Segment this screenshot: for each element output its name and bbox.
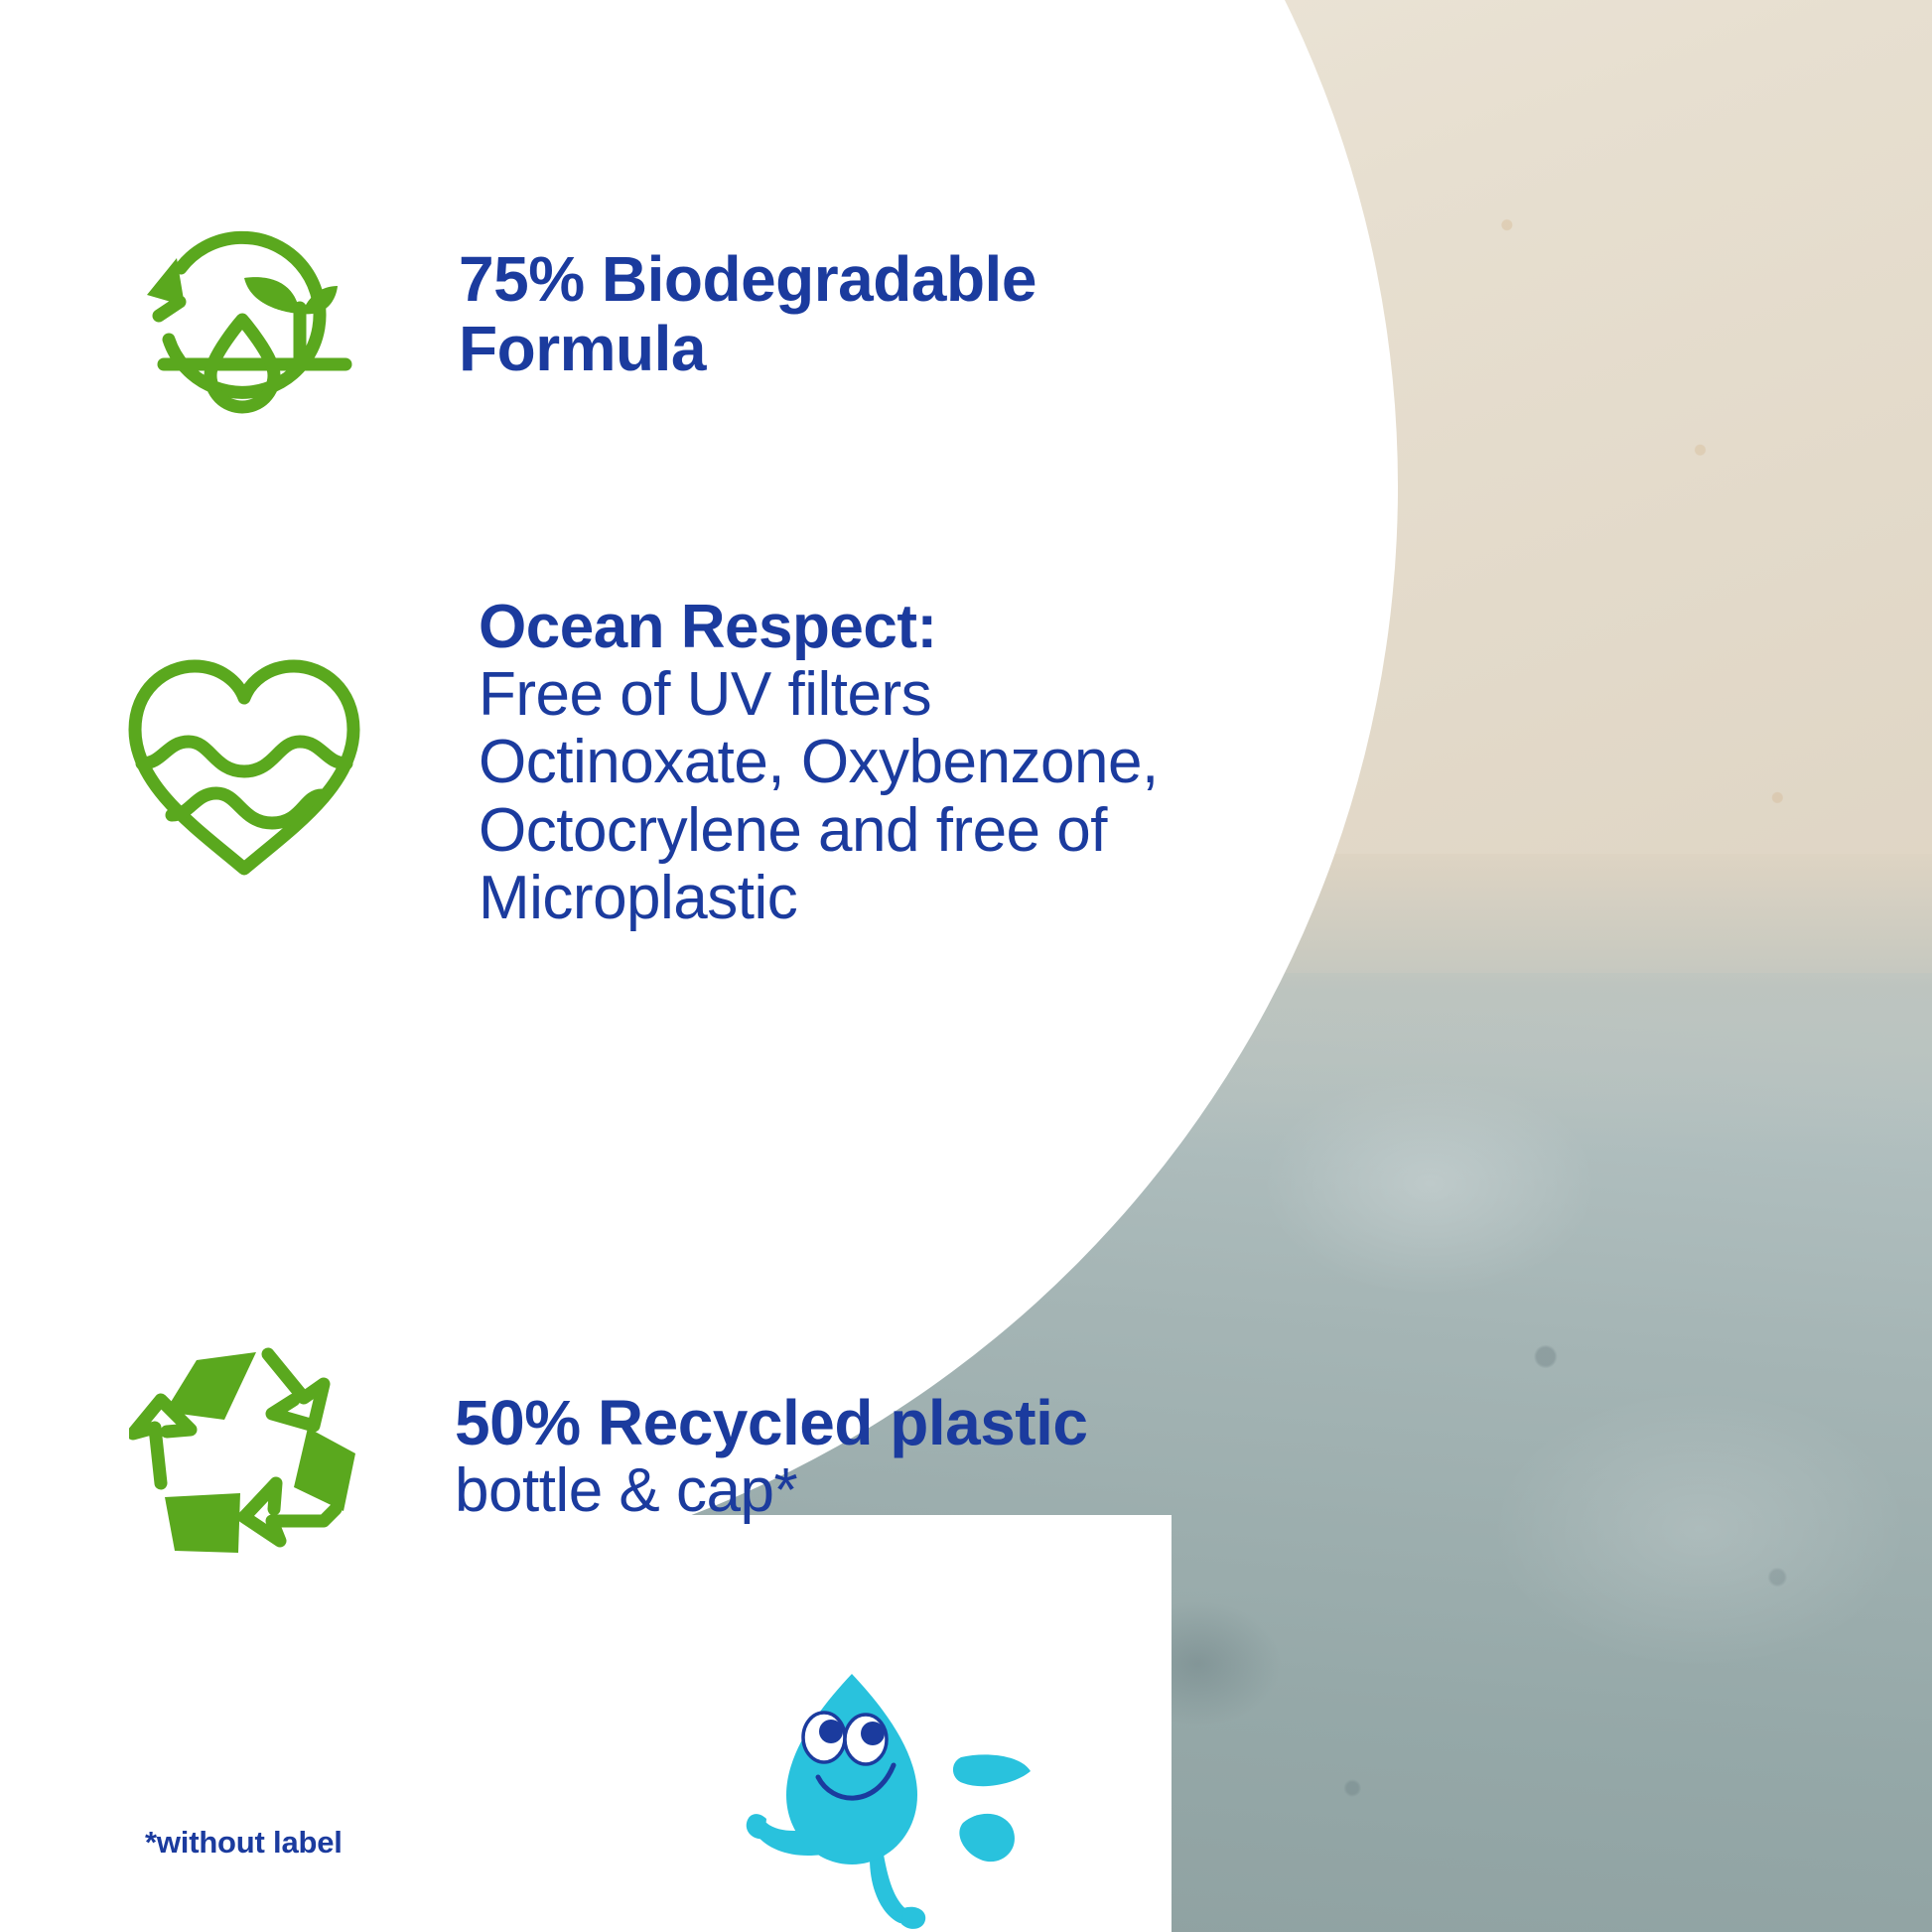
mascot-splash-small bbox=[959, 1814, 1015, 1862]
mascot-left-pupil bbox=[819, 1720, 843, 1743]
claim-recycled-plastic-bold-line: 50% Recycled plastic bbox=[455, 1388, 1087, 1457]
mascot-front-foot bbox=[901, 1907, 925, 1929]
footnote-without-label: *without label bbox=[145, 1825, 343, 1861]
claim-recycled-plastic: 50% Recycled plastic bottle & cap* bbox=[129, 1342, 1087, 1571]
water-droplet-mascot bbox=[737, 1660, 1064, 1932]
claim-ocean-respect-line-1: Free of UV filters bbox=[479, 660, 931, 729]
claim-ocean-respect-heading: Ocean Respect: bbox=[479, 594, 1159, 661]
claim-biodegradable-line-1: 75% Biodegradable bbox=[459, 243, 1036, 315]
claim-ocean-respect: Ocean Respect: Free of UV filters Octino… bbox=[115, 594, 1159, 932]
claim-biodegradable-line-2: Formula bbox=[459, 313, 706, 384]
claim-ocean-respect-line-4: Microplastic bbox=[479, 864, 797, 932]
claim-biodegradable: 75% Biodegradable Formula bbox=[125, 195, 1036, 433]
claim-recycled-plastic-text: 50% Recycled plastic bottle & cap* bbox=[455, 1388, 1087, 1526]
recycle-circle-plant-droplet-icon bbox=[125, 195, 363, 433]
product-claims-infographic: 75% Biodegradable Formula Ocean Respect:… bbox=[0, 0, 1932, 1932]
mascot-back-foot bbox=[747, 1814, 766, 1839]
claims-content: 75% Biodegradable Formula Ocean Respect:… bbox=[0, 0, 1932, 1932]
mascot-right-pupil bbox=[861, 1722, 885, 1745]
recycling-triangle-icon bbox=[129, 1342, 363, 1571]
claim-recycled-plastic-regular-line: bottle & cap* bbox=[455, 1457, 1087, 1525]
mascot-body bbox=[786, 1674, 917, 1864]
heart-wave-ocean-icon bbox=[115, 638, 373, 887]
claim-ocean-respect-line-2: Octinoxate, Oxybenzone, bbox=[479, 728, 1159, 796]
claim-biodegradable-text: 75% Biodegradable Formula bbox=[459, 244, 1036, 384]
mascot-splash-large bbox=[953, 1754, 1031, 1786]
claim-ocean-respect-line-3: Octocrylene and free of bbox=[479, 796, 1107, 865]
claim-ocean-respect-text: Ocean Respect: Free of UV filters Octino… bbox=[479, 594, 1159, 932]
